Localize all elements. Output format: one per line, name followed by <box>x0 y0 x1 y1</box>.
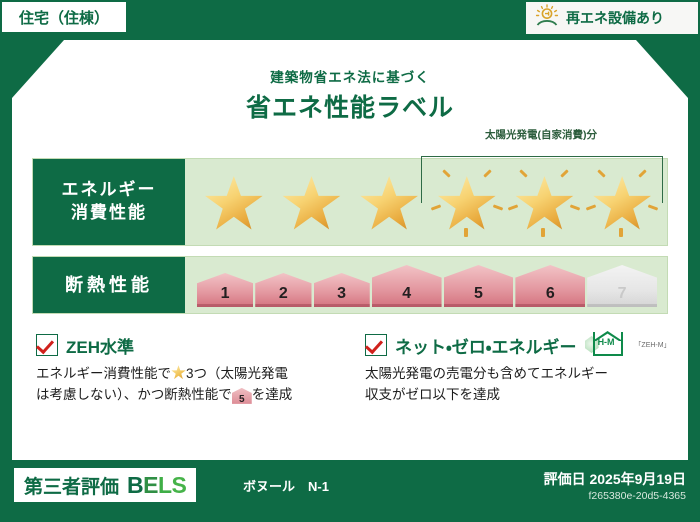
check-icon <box>365 334 387 356</box>
insulation-level-number: 5 <box>474 285 483 303</box>
insulation-scale: 1234567 <box>197 257 657 313</box>
sparkle-icon <box>520 169 529 177</box>
insulation-level-number: 1 <box>221 285 230 303</box>
star-icon <box>437 175 497 233</box>
check-icon <box>36 334 58 356</box>
label-footer: 第三者評価 BELS ボヌール N-1 評価日 2025年9月19日 f2653… <box>0 460 700 522</box>
sparkle-icon <box>597 169 606 177</box>
statement-zeh-body: エネルギー消費性能で3つ（太陽光発電 は考慮しない）、かつ断熱性能で5を達成 <box>36 364 339 406</box>
statement-nzeb-head: ネット・ゼロ・エネルギー H-M 「ZEH-M」 <box>365 332 668 358</box>
zeh-m-house-icon: H-M <box>587 332 628 358</box>
insulation-level-7: 7 <box>587 265 657 307</box>
star-icon <box>359 175 419 233</box>
card-title: 省エネ性能ラベル <box>12 88 688 124</box>
renewable-badge-label: 再エネ設備あり <box>566 8 664 28</box>
star-rating <box>195 159 661 245</box>
sparkle-icon <box>541 228 545 237</box>
star-icon <box>204 175 264 233</box>
statements-section: ZEH水準 エネルギー消費性能で3つ（太陽光発電 は考慮しない）、かつ断熱性能で… <box>36 332 668 442</box>
sparkle-icon <box>483 169 492 177</box>
statement-zeh: ZEH水準 エネルギー消費性能で3つ（太陽光発電 は考慮しない）、かつ断熱性能で… <box>36 332 339 442</box>
zeh-m-mark-text: H-M <box>598 337 615 347</box>
row-insulation-key-label: 断熱性能 <box>65 273 153 297</box>
insulation-level-number: 4 <box>402 285 411 303</box>
house-level-icon: 5 <box>232 388 252 404</box>
bels-jp-label: 第三者評価 <box>24 472 119 499</box>
statement-nzeb-title: ネット・ゼロ・エネルギー <box>395 333 577 358</box>
category-chip: 住宅（住棟） <box>0 0 128 34</box>
star-1 <box>197 165 271 239</box>
bels-letter-s: S <box>172 472 187 498</box>
row-energy-key-line2: 消費性能 <box>71 202 147 225</box>
star-icon <box>514 175 574 233</box>
row-insulation-key: 断熱性能 <box>33 257 185 313</box>
sparkle-icon <box>570 204 580 210</box>
star-4-solar <box>430 165 504 239</box>
house-level-number: 5 <box>239 394 245 405</box>
row-insulation-performance: 断熱性能 1234567 <box>32 256 668 314</box>
statement-nzeb-line1: 太陽光発電の売電分も含めてエネルギー <box>365 366 608 381</box>
bels-letter-e: E <box>143 472 158 498</box>
statement-zeh-title: ZEH水準 <box>66 333 134 358</box>
sparkle-icon <box>431 204 441 210</box>
row-energy-performance: エネルギー 消費性能 太陽光発電(自家消費)分 <box>32 158 668 246</box>
statement-nzeb: ネット・ゼロ・エネルギー H-M 「ZEH-M」 太陽光発電の売電分も含めてエネ… <box>365 332 668 442</box>
sparkle-icon <box>638 169 647 177</box>
star-5-solar <box>507 165 581 239</box>
card-subtitle: 建築物省エネ法に基づく <box>12 66 688 86</box>
sparkle-icon <box>648 204 658 210</box>
row-energy-value: 太陽光発電(自家消費)分 <box>185 159 667 245</box>
bels-letter-b: B <box>127 472 143 498</box>
solar-annotation: 太陽光発電(自家消費)分 <box>417 129 665 159</box>
star-icon <box>281 175 341 233</box>
insulation-level-number: 2 <box>279 285 288 303</box>
star-icon <box>171 365 186 380</box>
bels-energy-label: 住宅（住棟） 再エネ設備あり 建築物省エネ法に基づ <box>0 0 700 522</box>
building-name: ボヌール N-1 <box>243 476 329 495</box>
star-2 <box>274 165 348 239</box>
solar-annotation-label: 太陽光発電(自家消費)分 <box>417 127 665 142</box>
sparkle-icon <box>493 204 503 210</box>
evaluation-date: 評価日 2025年9月19日 <box>544 469 686 489</box>
row-energy-key-line1: エネルギー <box>62 179 157 202</box>
row-insulation-value: 1234567 <box>185 257 667 313</box>
insulation-level-5: 5 <box>444 265 514 307</box>
sparkle-icon <box>508 204 518 210</box>
statement-zeh-text-3: は考慮しない）、かつ断熱性能で <box>36 387 232 402</box>
bels-en-label: BELS <box>127 472 186 499</box>
statement-nzeb-body: 太陽光発電の売電分も含めてエネルギー 収支がゼロ以下を達成 <box>365 364 668 406</box>
sparkle-icon <box>561 169 570 177</box>
sparkle-icon <box>442 169 451 177</box>
category-chip-label: 住宅（住棟） <box>19 7 109 28</box>
zeh-m-caption: 「ZEH-M」 <box>634 340 668 350</box>
row-energy-key: エネルギー 消費性能 <box>33 159 185 245</box>
star-6-solar <box>585 165 659 239</box>
insulation-level-6: 6 <box>515 265 585 307</box>
statement-zeh-text-4: を達成 <box>252 387 293 402</box>
statement-zeh-text-1: エネルギー消費性能で <box>36 366 171 381</box>
solar-sun-icon <box>534 4 560 33</box>
statement-zeh-text-2: 3つ（太陽光発電 <box>186 366 288 381</box>
insulation-level-number: 6 <box>546 285 555 303</box>
bels-logo: 第三者評価 BELS <box>14 468 196 502</box>
insulation-level-number: 3 <box>337 285 346 303</box>
statement-nzeb-line2: 収支がゼロ以下を達成 <box>365 387 500 402</box>
star-icon <box>592 175 652 233</box>
statement-zeh-head: ZEH水準 <box>36 332 339 358</box>
insulation-level-4: 4 <box>372 265 442 307</box>
sparkle-icon <box>464 228 468 237</box>
renewable-equipment-badge: 再エネ設備あり <box>524 0 700 36</box>
evaluation-id: f265380e-20d5-4365 <box>588 490 686 502</box>
insulation-level-2: 2 <box>255 273 311 307</box>
insulation-level-number: 7 <box>618 285 627 303</box>
star-3 <box>352 165 426 239</box>
sparkle-icon <box>586 204 596 210</box>
insulation-level-1: 1 <box>197 273 253 307</box>
bels-letter-l: L <box>158 472 172 498</box>
sparkle-icon <box>619 228 623 237</box>
label-card: 建築物省エネ法に基づく 省エネ性能ラベル エネルギー 消費性能 太陽光発電(自家… <box>12 40 688 460</box>
insulation-level-3: 3 <box>314 273 370 307</box>
